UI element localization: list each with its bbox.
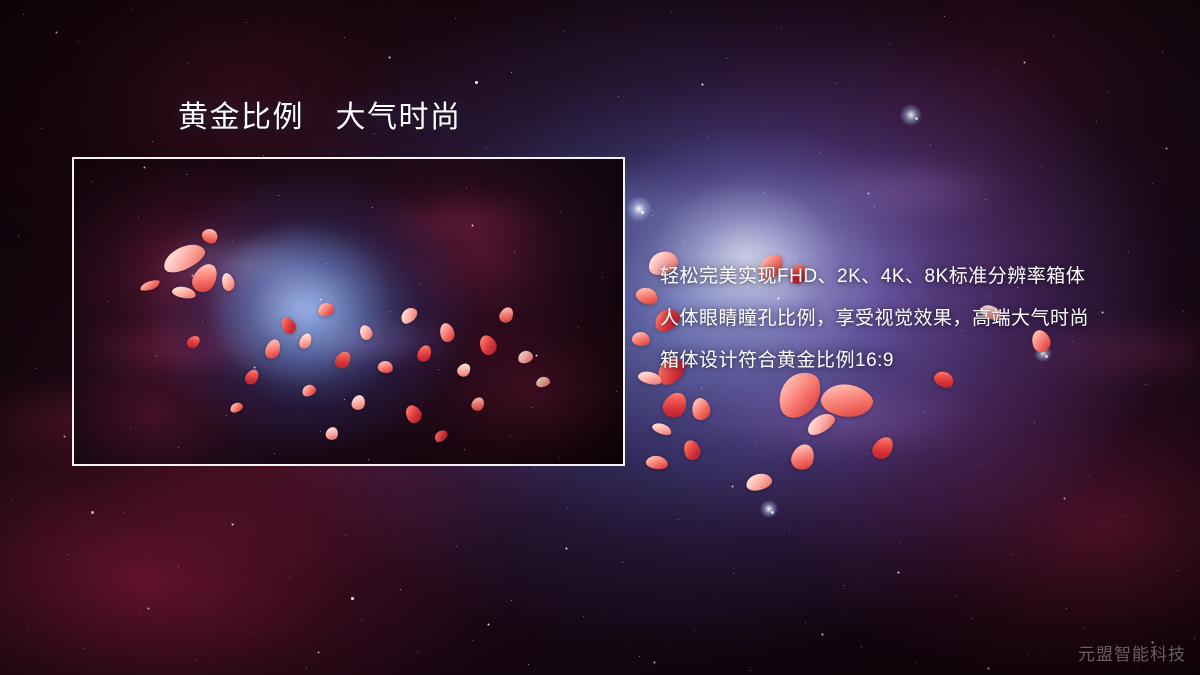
starfield-medium xyxy=(0,0,1,1)
image-panel-frame xyxy=(72,157,625,466)
image-panel-content xyxy=(74,159,623,464)
petal xyxy=(869,433,897,463)
body-line-2: 人体眼睛瞳孔比例，享受视觉效果，高端大气时尚 xyxy=(660,298,1160,340)
watermark-logo-text: 元盟智能科技 xyxy=(1078,640,1186,665)
starfield-small xyxy=(0,0,1,1)
panel-vignette xyxy=(74,159,623,464)
body-line-1: 轻松完美实现FHD、2K、4K、8K标准分辨率箱体 xyxy=(660,256,1160,298)
bright-star-glow xyxy=(900,104,922,126)
page-title: 黄金比例 大气时尚 xyxy=(178,100,462,136)
bright-star-glow xyxy=(626,196,652,222)
bright-star-glow xyxy=(760,500,778,518)
petal xyxy=(651,421,673,438)
petal xyxy=(681,438,704,463)
petal xyxy=(690,396,713,422)
body-text-block: 轻松完美实现FHD、2K、4K、8K标准分辨率箱体 人体眼睛瞳孔比例，享受视觉效… xyxy=(660,256,1160,382)
slide-canvas: 黄金比例 大气时尚 xyxy=(0,0,1200,675)
starfield-large xyxy=(0,0,1,1)
petal xyxy=(789,441,818,473)
petal xyxy=(745,471,774,492)
petal xyxy=(659,388,691,421)
petal xyxy=(631,330,652,347)
petal xyxy=(634,284,661,308)
body-line-3: 箱体设计符合黄金比例16:9 xyxy=(660,340,1160,382)
petal xyxy=(645,454,669,471)
